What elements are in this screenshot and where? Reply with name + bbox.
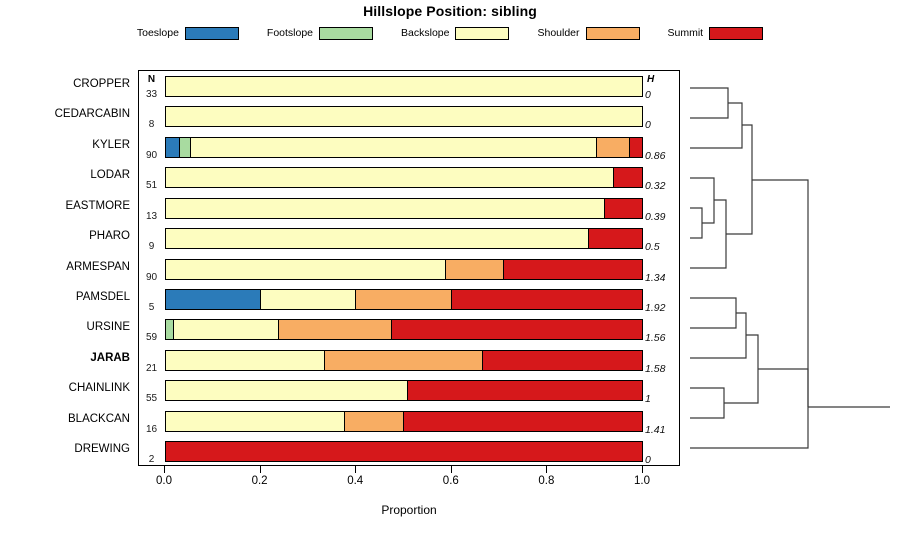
- h-value: 1.56: [645, 332, 681, 344]
- bar-segment-summit: [404, 412, 642, 431]
- x-axis-tick: [546, 466, 547, 473]
- n-value: 59: [139, 332, 164, 343]
- n-value: 16: [139, 424, 164, 435]
- table-row: [165, 289, 643, 310]
- x-axis-tick-label: 0.0: [156, 475, 172, 487]
- x-axis-tick-label: 0.2: [252, 475, 268, 487]
- table-row: [165, 167, 643, 188]
- h-value: 1.34: [645, 272, 681, 284]
- h-value: 0: [645, 89, 681, 101]
- n-value: 55: [139, 393, 164, 404]
- legend-item-backslope: Backslope: [401, 27, 509, 40]
- bar-segment-footslope: [180, 138, 190, 157]
- table-row: [165, 319, 643, 340]
- n-value: 5: [139, 302, 164, 313]
- h-value: 0.32: [645, 180, 681, 192]
- legend-label: Backslope: [401, 27, 449, 39]
- legend-label: Shoulder: [537, 27, 579, 39]
- category-label-kyler: KYLER: [92, 139, 130, 151]
- stacked-bars-area: [139, 71, 681, 467]
- n-value: 2: [139, 454, 164, 465]
- x-axis-tick: [355, 466, 356, 473]
- dendro-link-chainlink-blackcan: [690, 388, 724, 418]
- bar-segment-backslope: [166, 229, 589, 248]
- h-value: 0: [645, 119, 681, 131]
- n-value: 21: [139, 363, 164, 374]
- n-value: 13: [139, 211, 164, 222]
- h-value: 0: [645, 454, 681, 466]
- bar-segment-shoulder: [279, 320, 392, 339]
- legend-item-summit: Summit: [668, 27, 764, 40]
- bar-segment-backslope: [166, 260, 446, 279]
- table-row: [165, 106, 643, 127]
- bar-segment-backslope: [261, 290, 356, 309]
- h-value: 0.86: [645, 150, 681, 162]
- category-axis-labels: CROPPERCEDARCABINKYLERLODAREASTMOREPHARO…: [0, 70, 134, 466]
- bar-segment-summit: [589, 229, 642, 248]
- bar-segment-shoulder: [356, 290, 451, 309]
- bar-segment-summit: [504, 260, 642, 279]
- chart-root: Hillslope Position: sibling ToeslopeFoot…: [0, 0, 900, 540]
- bar-segment-summit: [605, 199, 642, 218]
- n-value: 9: [139, 241, 164, 252]
- bar-segment-summit: [452, 290, 642, 309]
- category-label-cedarcabin: CEDARCABIN: [55, 108, 130, 120]
- legend-item-footslope: Footslope: [267, 27, 373, 40]
- bar-segment-backslope: [174, 320, 279, 339]
- table-row: [165, 411, 643, 432]
- h-value: 1.58: [645, 363, 681, 375]
- bar-segment-summit: [614, 168, 642, 187]
- x-axis-tick-label: 0.4: [347, 475, 363, 487]
- bar-segment-toeslope: [166, 138, 180, 157]
- category-label-jarab: JARAB: [90, 352, 130, 364]
- table-row: [165, 350, 643, 371]
- legend-swatch-icon: [185, 27, 239, 40]
- x-axis-tick-label: 0.8: [538, 475, 554, 487]
- table-row: [165, 228, 643, 249]
- table-row: [165, 380, 643, 401]
- dendro-link-cropper-cedarcabin: [690, 88, 728, 118]
- dendro-link-top3: [690, 103, 742, 148]
- bar-segment-summit: [483, 351, 642, 370]
- legend-swatch-icon: [586, 27, 640, 40]
- bar-segment-backslope: [166, 381, 408, 400]
- x-axis: 0.00.20.40.60.81.0: [138, 466, 680, 500]
- n-column-header: N: [139, 74, 164, 85]
- n-value: 8: [139, 119, 164, 130]
- legend-swatch-icon: [709, 27, 763, 40]
- dendro-link-upper-merge: [726, 125, 752, 234]
- n-column: N 3389051139905592155162: [139, 70, 164, 466]
- bar-segment-shoulder: [345, 412, 405, 431]
- bar-segment-backslope: [166, 199, 605, 218]
- x-axis-tick: [260, 466, 261, 473]
- dendrogram: [680, 70, 900, 466]
- legend-label: Toeslope: [137, 27, 179, 39]
- n-value: 51: [139, 180, 164, 191]
- bar-segment-backslope: [191, 138, 597, 157]
- legend-swatch-icon: [319, 27, 373, 40]
- legend-item-shoulder: Shoulder: [537, 27, 639, 40]
- dendro-link-eastmore-pharo: [690, 208, 702, 238]
- category-label-blackcan: BLACKCAN: [68, 413, 130, 425]
- x-axis-tick: [451, 466, 452, 473]
- legend-label: Footslope: [267, 27, 313, 39]
- legend-swatch-icon: [455, 27, 509, 40]
- legend-item-toeslope: Toeslope: [137, 27, 239, 40]
- category-label-ursine: URSINE: [87, 321, 130, 333]
- bar-segment-shoulder: [597, 138, 630, 157]
- category-label-chainlink: CHAINLINK: [69, 382, 130, 394]
- table-row: [165, 76, 643, 97]
- h-value: 0.5: [645, 241, 681, 253]
- bar-segment-summit: [408, 381, 642, 400]
- table-row: [165, 198, 643, 219]
- h-value: 0.39: [645, 211, 681, 223]
- dendro-link-armespan-grp: [690, 200, 726, 268]
- bar-segment-toeslope: [166, 290, 261, 309]
- bar-segment-summit: [392, 320, 642, 339]
- legend: ToeslopeFootslopeBackslopeShoulderSummit: [0, 24, 900, 42]
- bar-segment-backslope: [166, 412, 345, 431]
- n-value: 90: [139, 150, 164, 161]
- n-value: 33: [139, 89, 164, 100]
- table-row: [165, 137, 643, 158]
- x-axis-title: Proportion: [138, 503, 680, 517]
- h-column-header: H: [647, 74, 654, 85]
- x-axis-tick-label: 0.6: [443, 475, 459, 487]
- h-value: 1: [645, 393, 681, 405]
- x-axis-tick: [642, 466, 643, 473]
- page-title: Hillslope Position: sibling: [0, 3, 900, 19]
- dendro-link-jarab-grp: [690, 313, 746, 358]
- dendro-link-pamsdel-ursine: [690, 298, 736, 328]
- category-label-pamsdel: PAMSDEL: [76, 291, 130, 303]
- legend-label: Summit: [668, 27, 704, 39]
- bar-segment-shoulder: [325, 351, 484, 370]
- n-value: 90: [139, 272, 164, 283]
- dendrogram-svg: [680, 70, 900, 466]
- dendro-link-lower-merge: [724, 335, 758, 403]
- h-value: 1.92: [645, 302, 681, 314]
- category-label-drewing: DREWING: [74, 443, 130, 455]
- table-row: [165, 441, 643, 462]
- bar-segment-backslope: [166, 351, 325, 370]
- bar-segment-shoulder: [446, 260, 504, 279]
- bar-segment-footslope: [166, 320, 174, 339]
- category-label-cropper: CROPPER: [73, 78, 130, 90]
- category-label-lodar: LODAR: [90, 169, 130, 181]
- dendro-link-drewing: [690, 369, 808, 448]
- category-label-armespan: ARMESPAN: [66, 261, 130, 273]
- table-row: [165, 259, 643, 280]
- category-label-eastmore: EASTMORE: [65, 200, 130, 212]
- dendro-link-upper-to-root: [752, 180, 808, 407]
- x-axis-tick-label: 1.0: [634, 475, 650, 487]
- bar-segment-backslope: [166, 107, 642, 126]
- plot-panel: [138, 70, 680, 466]
- bar-segment-summit: [166, 442, 642, 461]
- x-axis-tick: [164, 466, 165, 473]
- h-column: H 000.860.320.390.51.341.921.561.5811.41…: [641, 70, 679, 466]
- h-value: 1.41: [645, 424, 681, 436]
- bar-segment-backslope: [166, 168, 614, 187]
- bar-segment-backslope: [166, 77, 642, 96]
- category-label-pharo: PHARO: [89, 230, 130, 242]
